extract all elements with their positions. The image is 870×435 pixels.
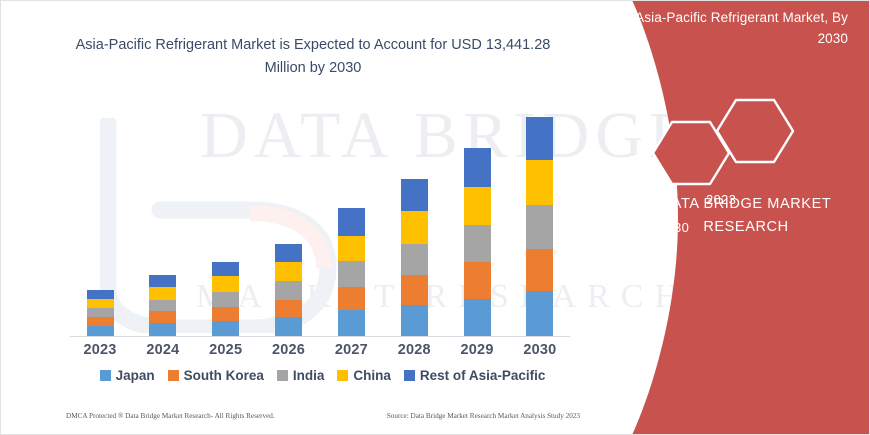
hexagon-pair-icon: [634, 92, 864, 192]
x-tick-2029: 2029: [447, 342, 507, 364]
bar-segment: [212, 292, 239, 307]
bar-segment: [149, 311, 176, 323]
legend-swatch-icon: [404, 370, 415, 381]
x-tick-2024: 2024: [133, 342, 193, 364]
legend-item[interactable]: China: [337, 368, 391, 383]
bar-segment: [401, 305, 428, 336]
bar-segment: [401, 179, 428, 211]
bar-segment: [149, 300, 176, 312]
bar-segment: [338, 208, 365, 236]
bar-segment: [401, 244, 428, 275]
legend-item[interactable]: Japan: [100, 368, 155, 383]
bar-segment: [87, 326, 114, 336]
footer-source: Source: Data Bridge Market Research Mark…: [387, 412, 580, 420]
bar-segment: [338, 261, 365, 287]
bar-column: [321, 100, 381, 336]
legend-item[interactable]: South Korea: [168, 368, 264, 383]
bar-segment: [87, 299, 114, 309]
bar-segment: [212, 307, 239, 322]
x-axis-tick-labels: 20232024202520262027202820292030: [70, 342, 570, 364]
bar-segment: [464, 262, 491, 298]
bar-segment: [275, 300, 302, 318]
x-tick-2028: 2028: [384, 342, 444, 364]
bar-column: [133, 100, 193, 336]
bar-segment: [526, 291, 553, 336]
bar-segment: [338, 287, 365, 311]
legend-label: India: [293, 368, 325, 383]
bar-segment: [338, 310, 365, 336]
bar-segment: [87, 317, 114, 326]
bar-column: [384, 100, 444, 336]
brand-panel-title: Asia-Pacific Refrigerant Market, By 2030: [618, 8, 848, 50]
legend-label: China: [353, 368, 391, 383]
legend-swatch-icon: [277, 370, 288, 381]
chart-title: Asia-Pacific Refrigerant Market is Expec…: [58, 34, 568, 80]
bar-stack[interactable]: [526, 117, 553, 336]
bar-segment: [275, 262, 302, 281]
legend-label: Japan: [116, 368, 155, 383]
bar-column: [70, 100, 130, 336]
legend-label: Rest of Asia-Pacific: [420, 368, 546, 383]
x-tick-2025: 2025: [196, 342, 256, 364]
x-axis-line: [70, 336, 570, 337]
bar-stack[interactable]: [149, 275, 176, 336]
bar-segment: [464, 225, 491, 262]
bar-column: [510, 100, 570, 336]
footer-copyright: DMCA Protected ® Data Bridge Market Rese…: [66, 412, 275, 420]
legend-label: South Korea: [184, 368, 264, 383]
bar-segment: [464, 187, 491, 225]
x-tick-2026: 2026: [259, 342, 319, 364]
x-tick-2023: 2023: [70, 342, 130, 364]
infographic-canvas: DATA BRIDGE MARKET RESEARCH Asia-Pacific…: [0, 0, 870, 435]
brand-panel: Asia-Pacific Refrigerant Market, By 2030…: [560, 0, 870, 435]
bar-segment: [275, 281, 302, 300]
bar-segment: [526, 249, 553, 291]
bar-segment: [526, 160, 553, 205]
bar-stack[interactable]: [338, 208, 365, 336]
x-tick-2027: 2027: [321, 342, 381, 364]
footer-bar: DMCA Protected ® Data Bridge Market Rese…: [66, 412, 586, 420]
bar-segment: [149, 323, 176, 336]
bar-stack[interactable]: [87, 290, 114, 336]
bar-segment: [275, 244, 302, 263]
bar-stack[interactable]: [464, 148, 491, 336]
legend-item[interactable]: India: [277, 368, 325, 383]
legend-swatch-icon: [337, 370, 348, 381]
bar-segment: [275, 317, 302, 336]
stacked-bar-group: [70, 100, 570, 336]
brand-panel-name: DATA BRIDGE MARKET RESEARCH: [622, 193, 870, 239]
legend-item[interactable]: Rest of Asia-Pacific: [404, 368, 546, 383]
bar-segment: [464, 299, 491, 336]
bar-segment: [212, 262, 239, 276]
bar-stack[interactable]: [275, 244, 302, 336]
bar-segment: [149, 275, 176, 287]
hexagon-badges: 2030 2023: [634, 92, 864, 182]
legend-swatch-icon: [168, 370, 179, 381]
legend-swatch-icon: [100, 370, 111, 381]
bar-segment: [464, 148, 491, 186]
x-tick-2030: 2030: [510, 342, 570, 364]
bar-stack[interactable]: [401, 179, 428, 336]
bar-segment: [149, 287, 176, 300]
bar-column: [196, 100, 256, 336]
bar-segment: [212, 321, 239, 336]
bar-segment: [87, 290, 114, 299]
bar-segment: [401, 211, 428, 243]
bar-segment: [87, 308, 114, 317]
chart-plot-area: [70, 100, 570, 337]
bar-column: [447, 100, 507, 336]
bar-column: [259, 100, 319, 336]
bar-segment: [338, 236, 365, 262]
chart-legend: JapanSouth KoreaIndiaChinaRest of Asia-P…: [70, 368, 575, 383]
bar-segment: [401, 275, 428, 305]
bar-segment: [526, 117, 553, 160]
bar-segment: [526, 205, 553, 248]
bar-segment: [212, 276, 239, 292]
bar-stack[interactable]: [212, 262, 239, 336]
